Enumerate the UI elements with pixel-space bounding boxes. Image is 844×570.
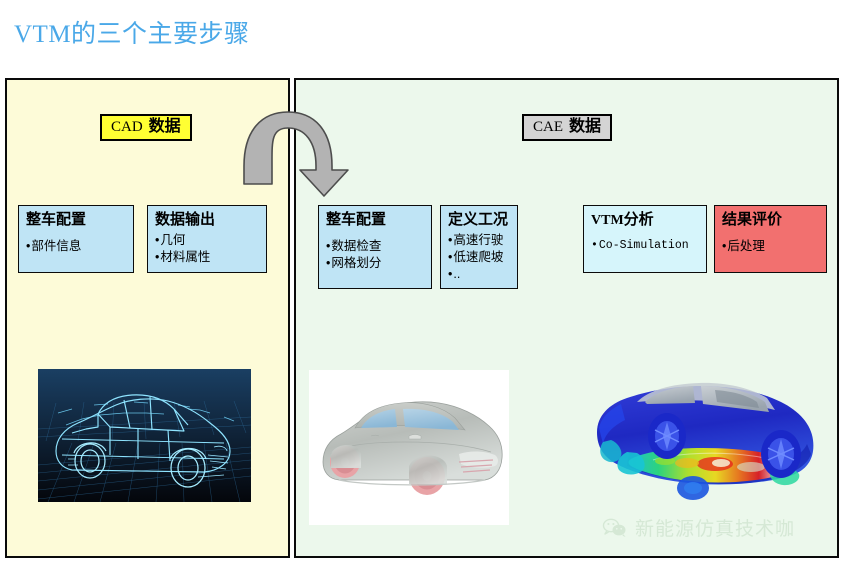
bullet-glyph: • (722, 239, 726, 253)
page-title: VTM的三个主要步骤 (14, 14, 250, 50)
wechat-icon (602, 517, 628, 539)
box-cad-data-output: 数据输出 •几何 •材料属性 (147, 205, 267, 273)
box-bullet-item: •后处理 (722, 238, 820, 255)
cae-geometry-car-image (309, 370, 509, 525)
bullet-glyph: • (326, 239, 330, 253)
box-title: 定义工况 (448, 211, 511, 230)
cad-data-label: CAD数据 (100, 114, 192, 141)
cad-chip-en: CAD (111, 119, 143, 135)
box-cae-load-case: 定义工况 •高速行驶 •低速爬坡 •.. (440, 205, 518, 289)
bullet-text: 后处理 (727, 239, 765, 253)
bullet-text: 数据检查 (331, 239, 381, 253)
cae-chip-en: CAE (533, 119, 563, 135)
box-title: 整车配置 (326, 211, 425, 230)
bullet-glyph: • (448, 267, 452, 281)
box-bullet-item: •部件信息 (26, 238, 127, 255)
bullet-text: Co-Simulation (599, 239, 689, 252)
bullet-glyph: • (26, 239, 30, 253)
bullet-text: 部件信息 (31, 239, 81, 253)
box-bullet-item: •Co-Simulation (591, 238, 700, 254)
cad-wireframe-car-image (38, 369, 251, 502)
box-cae-vtm-analysis: VTM分析 •Co-Simulation (583, 205, 707, 273)
bullet-text: 低速爬坡 (453, 250, 503, 264)
watermark: 新能源仿真技术咖 (602, 514, 795, 541)
bullet-glyph: • (591, 239, 598, 252)
watermark-text: 新能源仿真技术咖 (635, 514, 795, 541)
bullet-text: 材料属性 (160, 250, 210, 264)
curved-flow-arrow-icon (240, 104, 370, 200)
box-cad-vehicle-config: 整车配置 •部件信息 (18, 205, 134, 273)
bullet-text: 网格划分 (331, 256, 381, 270)
cae-data-label: CAE数据 (522, 114, 612, 141)
box-bullet-item: •数据检查 (326, 238, 425, 255)
box-title-cn: 分析 (624, 211, 654, 228)
cae-result-contour-car-image (575, 368, 838, 513)
box-cae-vehicle-config: 整车配置 •数据检查 •网格划分 (318, 205, 432, 289)
box-bullet-item: •高速行驶 (448, 232, 511, 249)
bullet-glyph: • (448, 233, 452, 247)
box-bullet-item: •网格划分 (326, 255, 425, 272)
bullet-glyph: • (326, 256, 330, 270)
box-bullet-item: •材料属性 (155, 249, 260, 266)
bullet-text: .. (453, 267, 460, 281)
box-title: VTM分析 (591, 211, 700, 230)
bullet-glyph: • (155, 250, 159, 264)
box-cae-result-evaluation: 结果评价 •后处理 (714, 205, 827, 273)
box-title: 结果评价 (722, 211, 820, 230)
box-title: 整车配置 (26, 211, 127, 230)
bullet-text: 几何 (160, 233, 185, 247)
bullet-glyph: • (448, 250, 452, 264)
cad-chip-cn: 数据 (149, 118, 181, 135)
cae-chip-cn: 数据 (569, 118, 601, 135)
box-title: 数据输出 (155, 211, 260, 230)
box-bullet-item: •.. (448, 266, 511, 283)
box-bullet-item: •几何 (155, 232, 260, 249)
bullet-glyph: • (155, 233, 159, 247)
bullet-text: 高速行驶 (453, 233, 503, 247)
box-bullet-item: •低速爬坡 (448, 249, 511, 266)
box-title-en: VTM (591, 213, 624, 228)
